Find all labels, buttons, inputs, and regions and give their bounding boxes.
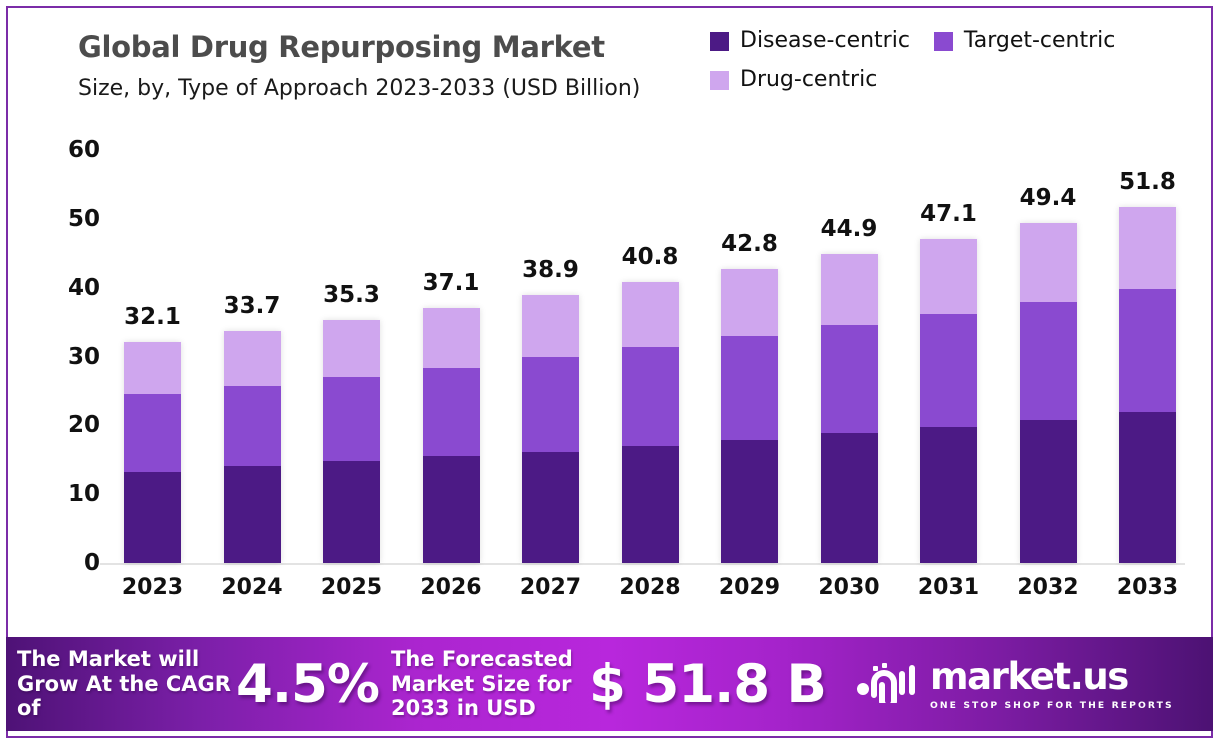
bar-segment-target-centric[interactable] [423,368,480,457]
y-axis-tick: 40 [38,275,100,301]
bar-segment-disease-centric[interactable] [423,456,480,563]
bar-total-label: 37.1 [409,270,494,296]
bar-segment-target-centric[interactable] [821,325,878,433]
legend-row-2: Drug-centric [710,69,1190,91]
bar-segment-drug-centric[interactable] [522,295,579,357]
x-axis-tick: 2025 [309,575,394,600]
chart-header: Global Drug Repurposing Market Size, by,… [0,0,1220,132]
bar-segment-disease-centric[interactable] [1119,412,1176,563]
bar-segment-drug-centric[interactable] [821,254,878,325]
bar-total-label: 47.1 [906,201,991,227]
y-axis-tick: 0 [38,550,100,576]
brand-text-block: market.us ONE STOP SHOP FOR THE REPORTS [930,658,1174,711]
bar-segment-disease-centric[interactable] [721,440,778,563]
y-axis-tick: 60 [38,137,100,163]
brand-logo[interactable]: market.us ONE STOP SHOP FOR THE REPORTS [856,658,1174,711]
bar-segment-disease-centric[interactable] [323,461,380,563]
legend-label: Disease-centric [740,30,910,52]
bar-segment-target-centric[interactable] [622,347,679,446]
forecast-size-value: $ 51.8 B [589,658,826,711]
legend-label: Target-centric [964,30,1115,52]
bar-segment-drug-centric[interactable] [721,269,778,336]
bar-stack[interactable] [622,282,679,563]
x-axis-tick: 2024 [210,575,295,600]
x-axis-tick: 2023 [110,575,195,600]
bar-stack[interactable] [1119,207,1176,563]
bar-segment-target-centric[interactable] [920,314,977,427]
brand-tagline: ONE STOP SHOP FOR THE REPORTS [930,700,1174,711]
x-axis: 2023202420252026202720282029203020312032… [100,575,1185,615]
bar-total-label: 38.9 [508,257,593,283]
bar-series-container: 32.133.735.337.138.940.842.844.947.149.4… [100,132,1185,563]
bar-segment-drug-centric[interactable] [622,282,679,347]
bar-segment-drug-centric[interactable] [124,342,181,394]
x-axis-tick: 2026 [409,575,494,600]
bar-stack[interactable] [323,320,380,563]
legend-swatch-icon [934,32,953,51]
x-axis-tick: 2030 [807,575,892,600]
bar-total-label: 42.8 [707,231,792,257]
legend-label: Drug-centric [740,69,877,91]
bar-total-label: 33.7 [210,293,295,319]
forecast-size-label: The Forecasted Market Size for 2033 in U… [391,647,581,721]
bar-segment-drug-centric[interactable] [1020,223,1077,302]
chart-legend: Disease-centric Target-centric Drug-cent… [710,30,1190,91]
bar-total-label: 35.3 [309,282,394,308]
brand-name: market.us [930,658,1128,695]
y-axis: 0102030405060 [38,132,100,572]
cagr-label: The Market will Grow At the CAGR of [17,647,232,721]
bar-segment-target-centric[interactable] [224,386,281,466]
legend-item-target-centric[interactable]: Target-centric [934,30,1115,52]
page-subtitle: Size, by, Type of Approach 2023-2033 (US… [78,76,718,101]
bar-total-label: 40.8 [608,244,693,270]
x-axis-baseline [100,563,1185,565]
bar-stack[interactable] [1020,223,1077,563]
bar-segment-disease-centric[interactable] [920,427,977,563]
legend-swatch-icon [710,71,729,90]
bar-total-label: 44.9 [807,216,892,242]
bar-stack[interactable] [721,269,778,563]
bar-segment-target-centric[interactable] [1119,289,1176,413]
x-axis-tick: 2032 [1006,575,1091,600]
bar-stack[interactable] [821,254,878,563]
y-axis-tick: 50 [38,206,100,232]
bar-segment-drug-centric[interactable] [920,239,977,314]
bar-segment-drug-centric[interactable] [1119,207,1176,289]
bar-stack[interactable] [423,308,480,563]
chart-plot-area: 0102030405060 32.133.735.337.138.940.842… [0,132,1220,630]
y-axis-tick: 30 [38,344,100,370]
y-axis-tick: 10 [38,481,100,507]
page-title: Global Drug Repurposing Market [78,30,718,64]
bar-segment-target-centric[interactable] [522,357,579,451]
bar-segment-target-centric[interactable] [323,377,380,462]
bar-total-label: 32.1 [110,304,195,330]
bar-segment-drug-centric[interactable] [224,331,281,385]
bar-segment-target-centric[interactable] [124,394,181,471]
x-axis-tick: 2029 [707,575,792,600]
bar-segment-disease-centric[interactable] [224,466,281,563]
y-axis-tick: 20 [38,412,100,438]
bar-segment-target-centric[interactable] [1020,302,1077,420]
cagr-value: 4.5% [236,658,379,711]
x-axis-tick: 2031 [906,575,991,600]
x-axis-tick: 2027 [508,575,593,600]
legend-item-drug-centric[interactable]: Drug-centric [710,69,877,91]
bar-total-label: 49.4 [1006,185,1091,211]
bar-segment-drug-centric[interactable] [423,308,480,368]
bar-stack[interactable] [920,239,977,563]
legend-swatch-icon [710,32,729,51]
legend-item-disease-centric[interactable]: Disease-centric [710,30,910,52]
bar-stack[interactable] [522,295,579,563]
bar-stack[interactable] [224,331,281,563]
title-block: Global Drug Repurposing Market Size, by,… [78,30,718,101]
market-us-mark-icon [856,661,918,707]
footer-banner: The Market will Grow At the CAGR of 4.5%… [6,637,1213,731]
chart-infographic: Global Drug Repurposing Market Size, by,… [0,0,1220,745]
bar-segment-disease-centric[interactable] [622,446,679,563]
bar-segment-disease-centric[interactable] [522,452,579,563]
bar-segment-target-centric[interactable] [721,336,778,440]
bar-stack[interactable] [124,342,181,563]
legend-row-1: Disease-centric Target-centric [710,30,1190,52]
x-axis-tick: 2028 [608,575,693,600]
bar-segment-disease-centric[interactable] [124,472,181,564]
bar-total-label: 51.8 [1105,169,1190,195]
bar-segment-disease-centric[interactable] [821,433,878,563]
bar-segment-drug-centric[interactable] [323,320,380,376]
bar-segment-disease-centric[interactable] [1020,420,1077,563]
x-axis-tick: 2033 [1105,575,1190,600]
